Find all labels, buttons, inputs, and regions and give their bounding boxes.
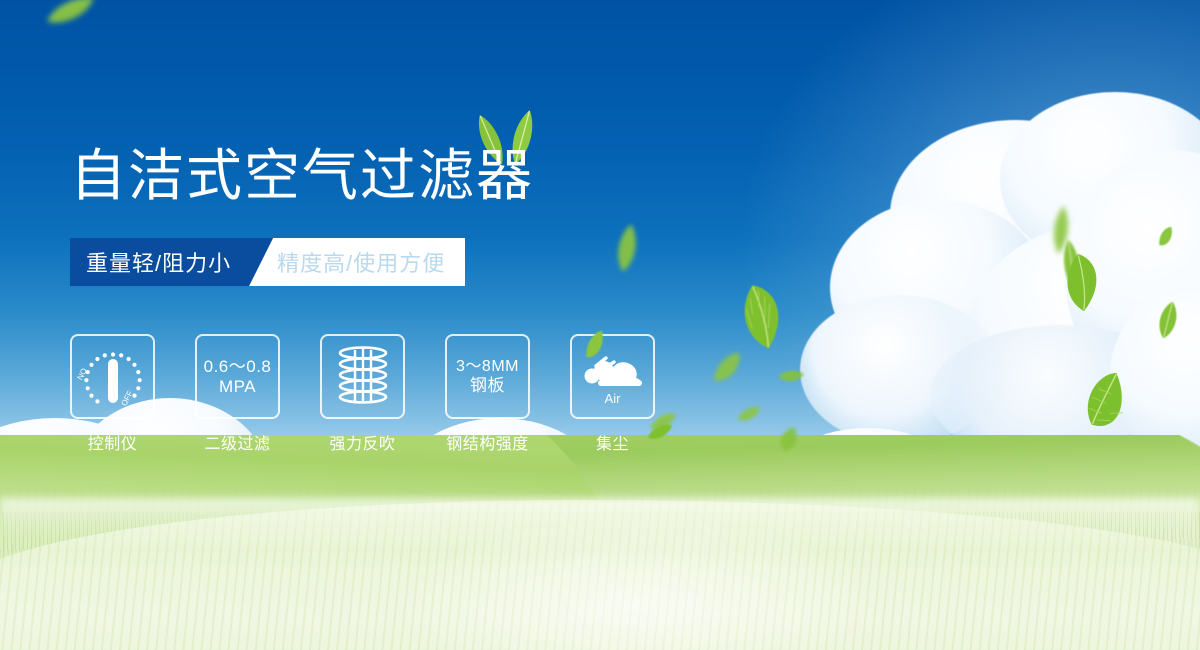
svg-text:OFF: OFF <box>119 389 135 407</box>
feature-item-control-gauge[interactable]: NO OFF 控制仪 <box>70 334 155 454</box>
subtitle-left: 重量轻/阻力小 <box>70 238 249 286</box>
feature-item-backblow[interactable]: 强力反吹 <box>320 334 405 454</box>
feature-label: 控制仪 <box>88 430 138 454</box>
feature-label: 二级过滤 <box>204 430 270 454</box>
feature-icon-box: 3～8MM 钢板 <box>445 334 530 419</box>
feature-label: 集尘 <box>596 430 629 454</box>
steel-plate-unit-text: 钢板 <box>470 376 505 395</box>
filter-cartridge-icon <box>333 344 393 410</box>
feature-icon-box: NO OFF <box>70 334 155 419</box>
subtitle-bar: 重量轻/阻力小 精度高/使用方便 <box>70 238 465 286</box>
page-title: 自洁式空气过滤器 <box>70 146 534 205</box>
steel-plate-text-icon: 3～8MM <box>456 358 519 376</box>
feature-label: 钢结构强度 <box>446 430 529 454</box>
subtitle-right: 精度高/使用方便 <box>273 238 465 286</box>
subtitle-divider <box>249 238 273 286</box>
feature-item-pressure[interactable]: 0.6～0.8 MPA 二级过滤 <box>195 334 280 454</box>
feature-label: 强力反吹 <box>329 430 395 454</box>
pressure-text-icon: 0.6～0.8 <box>204 357 272 376</box>
banner-content: 自洁式空气过滤器 重量轻/阻力小 精度高/使用方便 <box>0 0 1200 650</box>
pressure-unit-text: MPA <box>219 377 256 396</box>
feature-item-steel[interactable]: 3～8MM 钢板 钢结构强度 <box>445 334 530 454</box>
cloud-air-label: Air <box>605 391 621 406</box>
gauge-dial-icon: NO OFF <box>77 344 149 410</box>
feature-icon-box: 0.6～0.8 MPA <box>195 334 280 419</box>
feature-list: NO OFF 控制仪 0.6～0.8 MPA 二级过滤 <box>70 334 655 454</box>
feature-icon-box <box>320 334 405 419</box>
